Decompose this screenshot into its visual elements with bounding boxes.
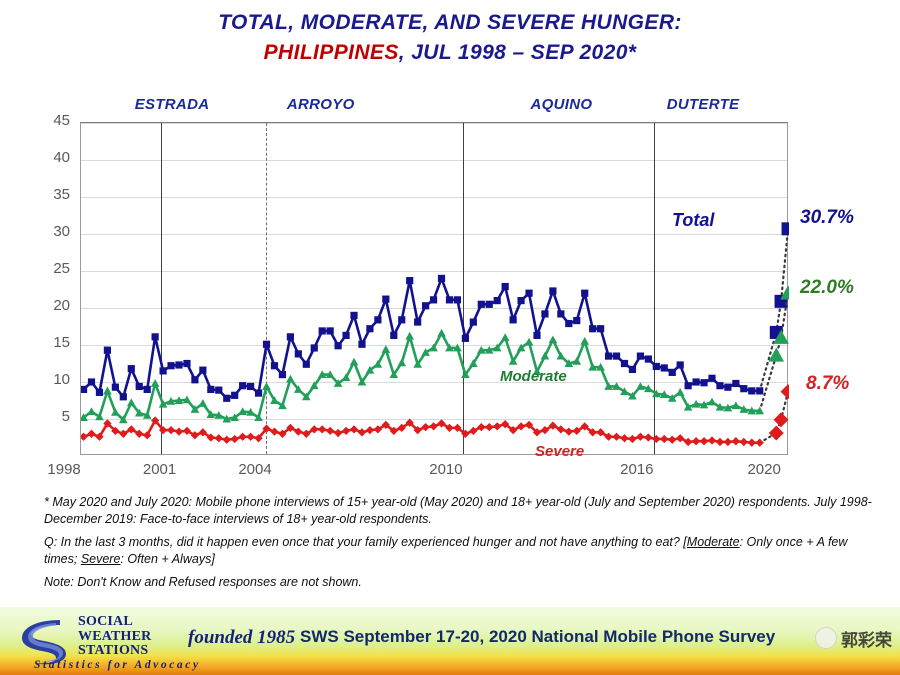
x-tick-1998: 1998 (29, 461, 99, 478)
sws-logo-line3: STATIONS (78, 644, 152, 659)
x-tick-2004: 2004 (220, 461, 290, 478)
presidency-label-duterte: DUTERTE (667, 96, 740, 113)
series-total (81, 222, 789, 402)
watermark-text: 郭彩荣 (841, 626, 892, 651)
chart-series-svg (81, 123, 789, 456)
y-tick-15: 15 (8, 334, 70, 351)
y-tick-25: 25 (8, 260, 70, 277)
x-tick-2020: 2020 (729, 461, 799, 478)
y-tick-35: 35 (8, 186, 70, 203)
x-tick-2010: 2010 (411, 461, 481, 478)
slide-title: TOTAL, MODERATE, AND SEVERE HUNGER: PHIL… (0, 8, 900, 68)
sws-logo-words: SOCIAL WEATHER STATIONS (78, 615, 152, 659)
series-label-severe: Severe (535, 443, 584, 460)
title-country: PHILIPPINES (264, 41, 399, 64)
watermark: 郭彩荣 (815, 621, 892, 655)
series-moderate (81, 285, 789, 423)
bottom-banner: SOCIAL WEATHER STATIONS founded 1985 Sta… (0, 607, 900, 675)
end-label-moderate: 22.0% (800, 277, 854, 299)
x-tick-2016: 2016 (602, 461, 672, 478)
footnote-3: Note: Don't Know and Refused responses a… (44, 574, 874, 591)
watermark-logo-icon (815, 627, 837, 649)
presidency-label-estrada: ESTRADA (135, 96, 210, 113)
sws-logo: SOCIAL WEATHER STATIONS founded 1985 Sta… (16, 613, 276, 671)
sws-logo-line1: SOCIAL (78, 615, 152, 630)
title-line-2: PHILIPPINES, JUL 1998 – SEP 2020* (0, 38, 900, 68)
banner-survey-text: SWS September 17-20, 2020 National Mobil… (300, 627, 775, 647)
y-tick-5: 5 (8, 408, 70, 425)
footnote-1: * May 2020 and July 2020: Mobile phone i… (44, 494, 874, 527)
presidency-label-arroyo: ARROYO (287, 96, 355, 113)
y-tick-10: 10 (8, 371, 70, 388)
y-tick-30: 30 (8, 223, 70, 240)
chart-plot-area (80, 122, 788, 455)
y-tick-45: 45 (8, 112, 70, 129)
sws-logo-founded: founded 1985 (188, 627, 295, 649)
x-tick-2001: 2001 (125, 461, 195, 478)
title-daterange: , JUL 1998 – SEP 2020* (399, 41, 637, 64)
end-label-severe: 8.7% (806, 373, 849, 395)
end-label-total: 30.7% (800, 207, 854, 229)
sws-logo-tagline: Statistics for Advocacy (34, 659, 201, 671)
footnotes: * May 2020 and July 2020: Mobile phone i… (44, 494, 874, 598)
series-label-moderate: Moderate (500, 368, 567, 385)
slide-root: TOTAL, MODERATE, AND SEVERE HUNGER: PHIL… (0, 0, 900, 675)
sws-logo-line2: WEATHER (78, 630, 152, 645)
presidency-label-aquino: AQUINO (531, 96, 593, 113)
title-line-1: TOTAL, MODERATE, AND SEVERE HUNGER: (0, 8, 900, 38)
footnote-2: Q: In the last 3 months, did it happen e… (44, 534, 874, 567)
y-tick-40: 40 (8, 149, 70, 166)
y-tick-20: 20 (8, 297, 70, 314)
series-label-total: Total (672, 210, 714, 231)
